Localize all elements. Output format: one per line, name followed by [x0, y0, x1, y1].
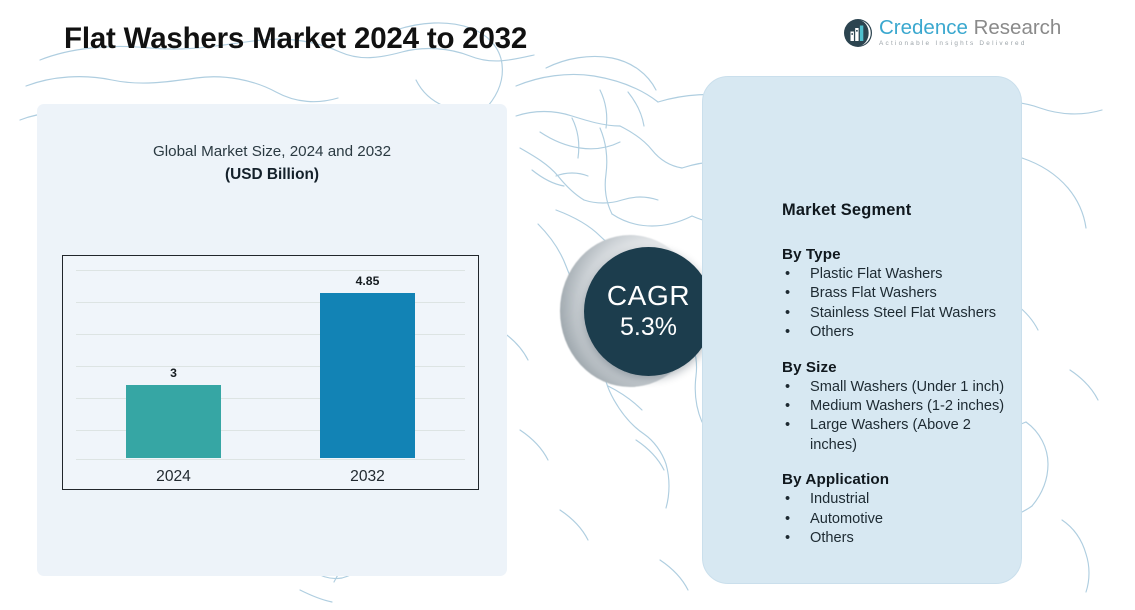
bullet-icon: • [785, 265, 790, 284]
segment-group-by-type: By Type •Plastic Flat Washers •Brass Fla… [782, 246, 1014, 343]
bullet-icon: • [785, 378, 790, 397]
bullet-icon: • [785, 529, 790, 548]
market-segment-heading: Market Segment [782, 201, 1014, 220]
segment-item: •Others [782, 323, 1014, 342]
cagr-value: 5.3% [620, 312, 677, 342]
segment-group-title: By Type [782, 246, 1014, 263]
bar-chart-plot-area: 3 4.85 2024 2032 [62, 255, 479, 490]
logo-name-second: Research [968, 16, 1061, 39]
bar-2024 [126, 385, 221, 458]
segment-item: •Others [782, 529, 1014, 548]
market-segment-panel: Market Segment By Type •Plastic Flat Was… [702, 76, 1022, 584]
bullet-icon: • [785, 490, 790, 509]
gridline [76, 459, 465, 460]
segment-item-label: Brass Flat Washers [810, 285, 937, 301]
bar-value-2032: 4.85 [320, 274, 415, 288]
segment-item-label: Industrial [810, 491, 869, 507]
market-size-chart-panel: Global Market Size, 2024 and 2032 (USD B… [37, 104, 507, 576]
segment-group-title: By Application [782, 471, 1014, 488]
bullet-icon: • [785, 284, 790, 303]
cagr-label: CAGR [607, 281, 690, 311]
bar-chart-circle-icon [843, 18, 873, 48]
segment-item-label: Automotive [810, 511, 883, 527]
segment-item: •Plastic Flat Washers [782, 265, 1014, 284]
bullet-icon: • [785, 397, 790, 416]
bullet-icon: • [785, 304, 790, 323]
segment-item: •Industrial [782, 490, 1014, 509]
infographic-canvas: Flat Washers Market 2024 to 2032 Credenc… [0, 0, 1135, 610]
segment-group-by-application: By Application •Industrial •Automotive •… [782, 471, 1014, 548]
brand-logo[interactable]: Credence Research Actionable Insights De… [843, 17, 1025, 51]
segment-item: •Medium Washers (1-2 inches) [782, 397, 1014, 416]
segment-item-label: Others [810, 324, 854, 340]
segment-item-label: Plastic Flat Washers [810, 266, 942, 282]
market-segment-content: Market Segment By Type •Plastic Flat Was… [782, 201, 1014, 548]
chart-subtitle: (USD Billion) [37, 166, 507, 184]
bar-category-2024: 2024 [126, 468, 221, 486]
segment-group-by-size: By Size •Small Washers (Under 1 inch) •M… [782, 359, 1014, 456]
segment-item-label: Small Washers (Under 1 inch) [810, 379, 1004, 395]
segment-group-title: By Size [782, 359, 1014, 376]
logo-name: Credence Research [879, 17, 1061, 39]
cagr-badge: CAGR 5.3% [584, 247, 713, 376]
logo-tagline: Actionable Insights Delivered [879, 40, 1061, 47]
bullet-icon: • [785, 510, 790, 529]
logo-text: Credence Research Actionable Insights De… [879, 17, 1061, 47]
page-title: Flat Washers Market 2024 to 2032 [64, 22, 527, 56]
bar-category-2032: 2032 [320, 468, 415, 486]
bar-2032 [320, 293, 415, 458]
bullet-icon: • [785, 323, 790, 342]
segment-item: •Small Washers (Under 1 inch) [782, 378, 1014, 397]
segment-item-label: Others [810, 530, 854, 546]
bullet-icon: • [785, 416, 790, 435]
segment-item-label: Stainless Steel Flat Washers [810, 305, 996, 321]
gridline [76, 270, 465, 271]
segment-item: •Automotive [782, 510, 1014, 529]
segment-item-label: Large Washers (Above 2 inches) [810, 417, 971, 452]
segment-item: •Stainless Steel Flat Washers [782, 304, 1014, 323]
segment-item: •Brass Flat Washers [782, 284, 1014, 303]
segment-item: •Large Washers (Above 2 inches) [782, 416, 1014, 455]
logo-name-first: Credence [879, 16, 968, 39]
bar-value-2024: 3 [126, 366, 221, 380]
chart-title: Global Market Size, 2024 and 2032 [37, 143, 507, 160]
segment-item-label: Medium Washers (1-2 inches) [810, 398, 1004, 414]
